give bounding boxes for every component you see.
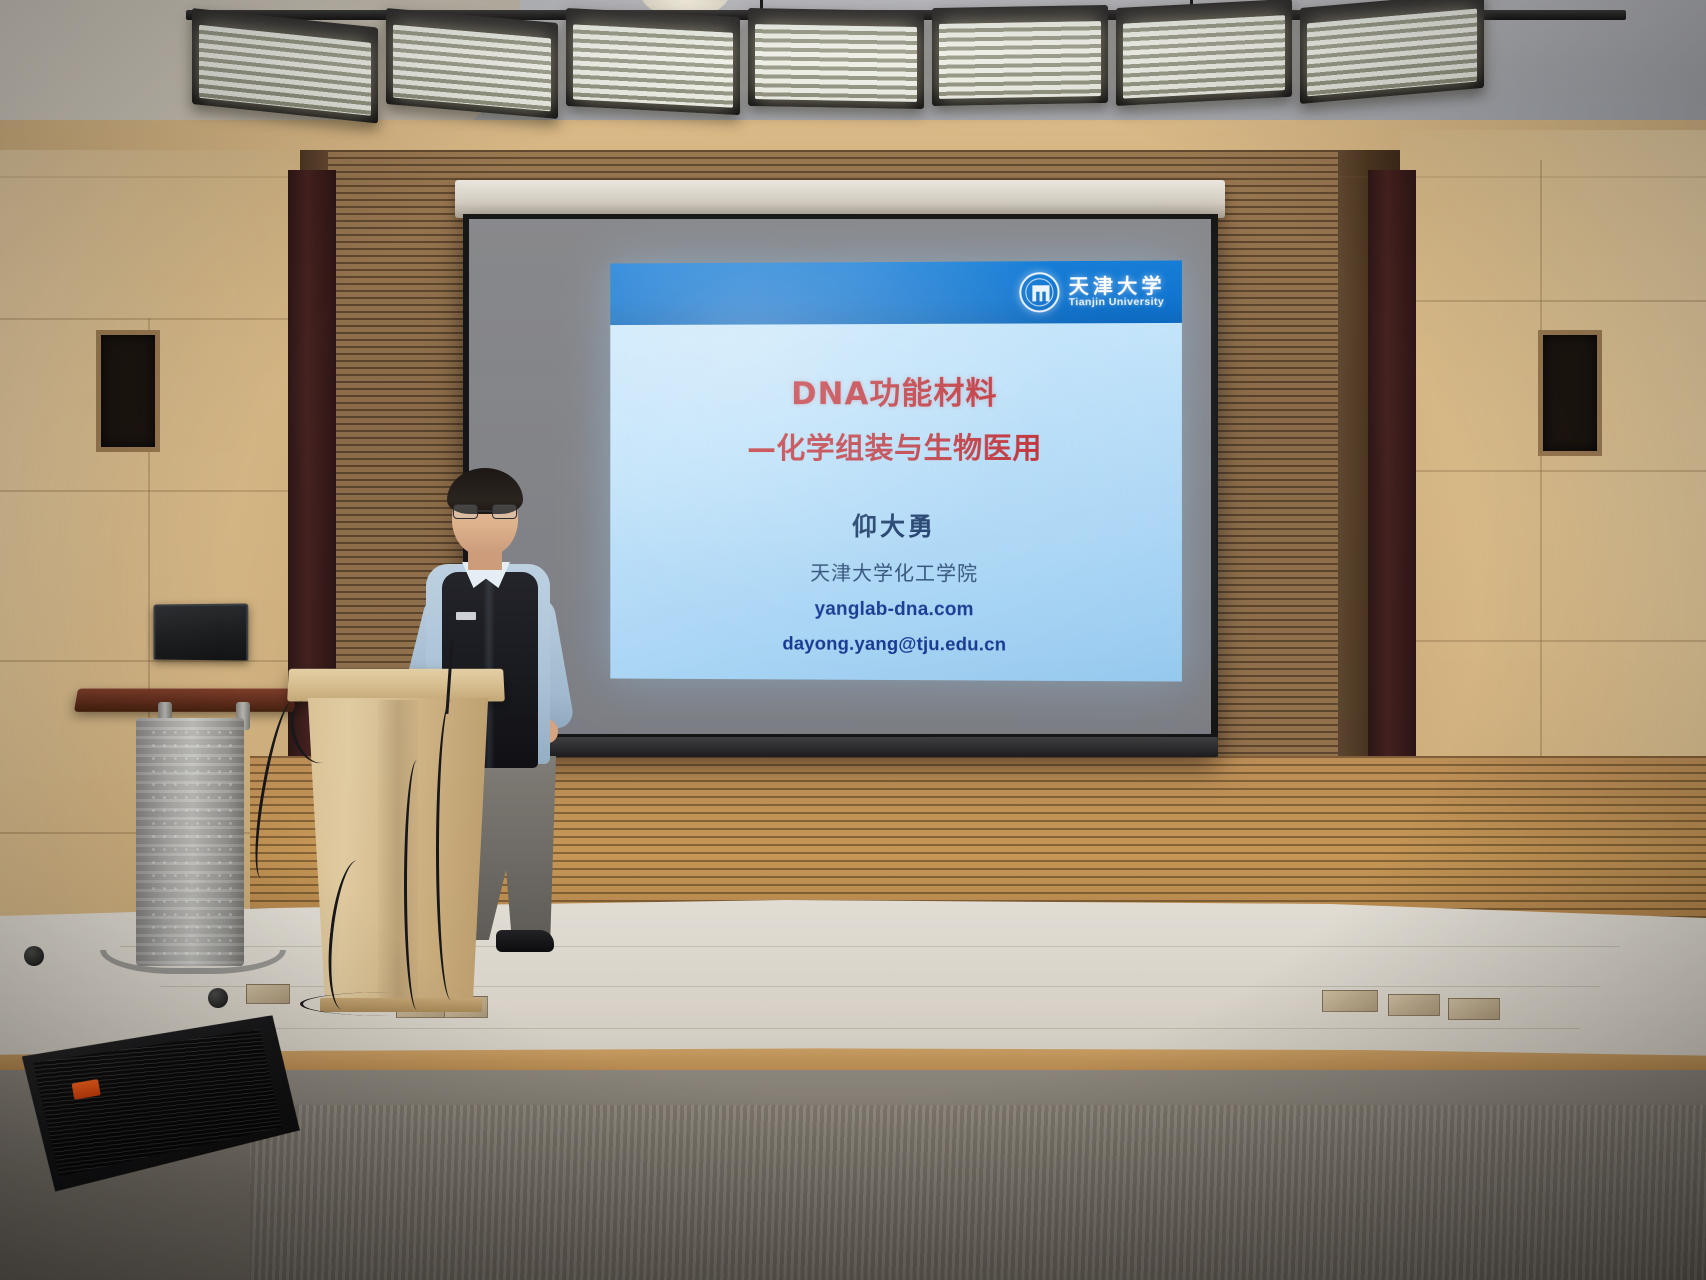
lectern-worktop [74, 689, 296, 712]
stage-light-fixture [566, 8, 740, 115]
vest-logo [456, 612, 476, 620]
wall-seam [0, 176, 1706, 178]
slide-header-bar: 天津大学 Tianjin University [610, 260, 1182, 325]
slide-title: DNA功能材料 [791, 368, 998, 413]
stage-light-fixture [748, 8, 924, 109]
presenter-glasses [452, 504, 518, 519]
glasses-lens-right [492, 504, 517, 519]
light-panel [1123, 15, 1285, 98]
projected-slide: 天津大学 Tianjin University DNA功能材料 —化学组装与生物… [610, 260, 1182, 681]
wall-seam [0, 318, 300, 320]
glasses-lens-left [453, 504, 478, 519]
cable [436, 700, 466, 1000]
stage-monitor-speaker [20, 1014, 303, 1194]
light-panel [1307, 9, 1477, 97]
cable [404, 760, 430, 1010]
wall-seam [0, 490, 300, 492]
cable-on-floor [300, 992, 480, 1016]
glasses-bridge [478, 510, 492, 512]
tianjin-university-seal-icon [1019, 272, 1059, 312]
slide-author: 仰大勇 [852, 507, 936, 543]
slide-subtitle: —化学组装与生物医用 [747, 425, 1042, 467]
stage-floor-plate [1448, 998, 1500, 1020]
tianjin-university-logo: 天津大学 Tianjin University [1019, 272, 1165, 313]
laptop-on-lectern[interactable] [153, 603, 248, 660]
wall-seam [1400, 470, 1706, 472]
lectern-perforation [148, 726, 232, 956]
wall-seam [1400, 300, 1706, 302]
stage-light-fixture [1300, 0, 1484, 104]
wall-seam [0, 660, 300, 662]
stage-light-fixture [1116, 0, 1292, 106]
glass-metal-lectern [136, 718, 244, 966]
light-panel [393, 25, 551, 112]
slide-website: yanglab-dna.com [815, 599, 974, 622]
logo-name-en: Tianjin University [1069, 297, 1166, 308]
logo-name-cn: 天津大学 [1069, 276, 1166, 298]
slide-affiliation: 天津大学化工学院 [810, 557, 978, 586]
stage-light-fixture [932, 5, 1108, 106]
stage-floor-plate [246, 984, 290, 1004]
stage-light-fixture [192, 8, 378, 124]
light-panel [573, 24, 733, 107]
podium-worktop [287, 669, 505, 702]
lecture-hall-photo: 天津大学 Tianjin University DNA功能材料 —化学组装与生物… [0, 0, 1706, 1280]
slide-email: dayong.yang@tju.edu.cn [782, 633, 1006, 656]
light-panel [755, 24, 917, 102]
wall-seam [1400, 640, 1706, 642]
stage-floor-plate [1322, 990, 1378, 1012]
stage-lighting-rig [0, 0, 1706, 120]
slide-body: DNA功能材料 —化学组装与生物医用 仰大勇 天津大学化工学院 yanglab-… [610, 323, 1182, 682]
wall-recess-right [1538, 330, 1602, 456]
logo-text: 天津大学 Tianjin University [1069, 276, 1166, 309]
light-panel [199, 25, 371, 116]
screen-bottom-bar [463, 737, 1218, 757]
presenter-shoe [496, 930, 554, 952]
light-panel [939, 21, 1101, 99]
screen-housing [455, 180, 1225, 218]
stage-plank-line [200, 1028, 1580, 1029]
wall-recess-left [96, 330, 160, 452]
stage-light-fixture [386, 8, 558, 119]
floor-carpet [250, 1105, 1706, 1280]
lectern-caster-wheel [24, 946, 44, 966]
lectern-caster-wheel [208, 988, 228, 1008]
stage-floor-plate [1388, 994, 1440, 1016]
